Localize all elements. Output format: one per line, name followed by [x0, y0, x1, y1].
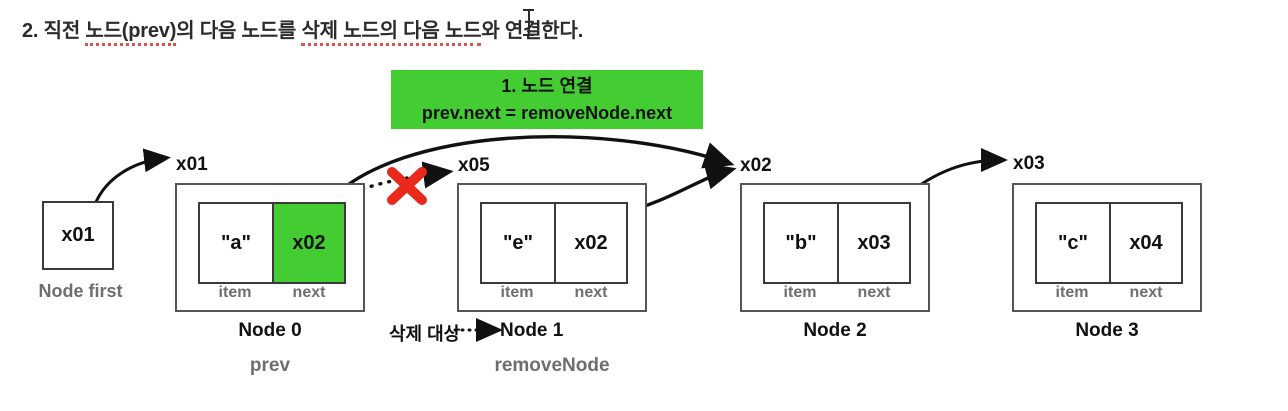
node-cells-2: "b" x03 [763, 202, 911, 284]
address-label-node0: x01 [176, 154, 208, 176]
node-2-next-cell: x03 [837, 204, 909, 282]
node-3-next-label: next [1109, 284, 1183, 302]
node-first-box: x01 [42, 201, 114, 270]
node-0-item-label: item [198, 284, 272, 302]
node-cells-1: "e" x02 [480, 202, 628, 284]
title-middle: 의 다음 노드를 [176, 20, 301, 42]
node-box-1: "e" x02 item next [457, 183, 647, 312]
x-mark-icon [392, 172, 422, 200]
callout-line-1: 1. 노드 연결 [501, 73, 592, 99]
page-title: 2. 직전 노드(prev)의 다음 노드를 삭제 노드의 다음 노드와 연결한… [22, 14, 583, 43]
title-underlined-removenode: 삭제 노드의 다음 노드 [301, 20, 481, 46]
node-3-caption: Node 3 [1012, 320, 1202, 342]
node-1-item-cell: "e" [482, 204, 554, 282]
node-2-item-cell: "b" [765, 204, 837, 282]
node-3-next-cell: x04 [1109, 204, 1181, 282]
address-label-node2: x02 [740, 155, 772, 177]
delete-target-label: 삭제 대상 [389, 320, 460, 346]
title-prefix: 2. 직전 [22, 20, 85, 42]
node-cells-3: "c" x04 [1035, 202, 1183, 284]
node-box-2: "b" x03 item next [740, 183, 930, 312]
node-0-next-label: next [272, 284, 346, 302]
node-0-cell-labels: item next [198, 284, 346, 302]
address-label-removed: x05 [458, 155, 490, 177]
callout-line-2: prev.next = removeNode.next [422, 100, 672, 126]
node-box-3: "c" x04 item next [1012, 183, 1202, 312]
node-2-item-label: item [763, 284, 837, 302]
title-suffix: 와 연결한다. [481, 20, 583, 42]
address-label-node3: x03 [1013, 153, 1045, 175]
node-first-value: x01 [61, 224, 94, 247]
node-cells-0: "a" x02 [198, 202, 346, 284]
node-0-subcaption: prev [175, 355, 365, 377]
node-1-subcaption: removeNode [457, 355, 647, 377]
node-0-item-cell: "a" [200, 204, 272, 282]
title-underlined-prev: 노드(prev) [85, 20, 176, 46]
node-1-next-label: next [554, 284, 628, 302]
node-1-caption: Node 1 [500, 320, 620, 342]
node-1-next-cell: x02 [554, 204, 626, 282]
node-3-cell-labels: item next [1035, 284, 1183, 302]
node-2-caption: Node 2 [740, 320, 930, 342]
node-link-callout: 1. 노드 연결 prev.next = removeNode.next [391, 70, 703, 129]
arrow-first-to-node0 [96, 158, 165, 202]
node-3-item-cell: "c" [1037, 204, 1109, 282]
node-2-next-label: next [837, 284, 911, 302]
node-0-caption: Node 0 [175, 320, 365, 342]
node-2-cell-labels: item next [763, 284, 911, 302]
node-first-caption: Node first [28, 281, 133, 302]
node-0-next-cell: x02 [272, 204, 344, 282]
node-1-cell-labels: item next [480, 284, 628, 302]
node-3-item-label: item [1035, 284, 1109, 302]
node-1-item-label: item [480, 284, 554, 302]
node-box-0: "a" x02 item next [175, 183, 365, 312]
